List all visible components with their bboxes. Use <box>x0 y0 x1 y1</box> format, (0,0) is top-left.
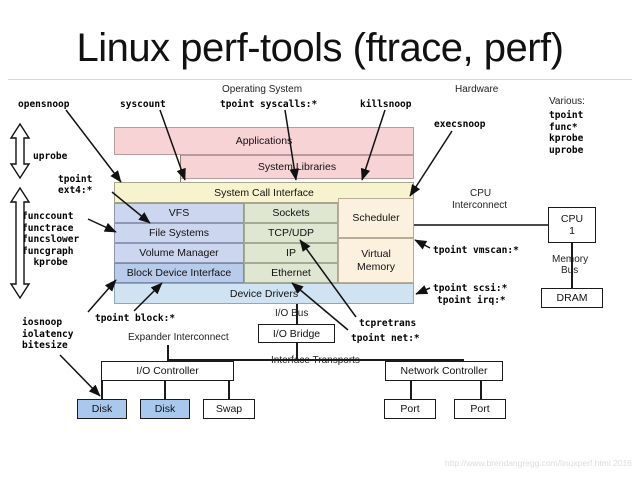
title-divider <box>8 79 632 80</box>
box-file-systems: File Systems <box>114 223 244 243</box>
cpu-label: CPU <box>561 213 583 225</box>
box-io-bridge: I/O Bridge <box>258 324 335 343</box>
line-io-controller-up <box>167 345 169 361</box>
box-io-controller: I/O Controller <box>101 361 234 381</box>
annotation-tpoint-scsi: tpoint scsi:* <box>433 283 507 295</box>
box-disk-b: Disk <box>140 399 190 419</box>
footer-url: http://www.brendangregg.com/linuxperf.ht… <box>0 458 632 468</box>
line-cpu-interconnect <box>414 224 548 226</box>
label-interface-transports: Interface Transports <box>271 355 360 366</box>
label-various: Various: <box>549 96 585 107</box>
cpu-number: 1 <box>569 225 575 237</box>
line-network-controller-up <box>443 359 445 362</box>
box-disk-a: Disk <box>77 399 127 419</box>
annotation-killsnoop: killsnoop <box>360 99 411 111</box>
label-expander-interconnect: Expander Interconnect <box>128 332 229 343</box>
virtual-memory-line-2: Memory <box>357 261 395 274</box>
annotation-tpoint-syscalls: tpoint syscalls:* <box>220 99 317 111</box>
box-scheduler: Scheduler <box>338 198 414 238</box>
annotation-tpoint-net: tpoint net:* <box>351 333 420 345</box>
box-tcp-udp: TCP/UDP <box>244 223 338 243</box>
line-io-bus <box>296 304 298 324</box>
annotation-tcpretrans: tcpretrans <box>359 318 416 330</box>
annotation-tpoint-vmscan: tpoint vmscan:* <box>433 245 519 257</box>
box-sockets: Sockets <box>244 203 338 223</box>
box-cpu-1: CPU 1 <box>548 207 596 243</box>
annotation-various-tools: tpoint func* kprobe uprobe <box>549 110 583 156</box>
line-disk-a <box>101 381 103 399</box>
annotation-tpoint-irq: tpoint irq:* <box>437 295 506 307</box>
box-device-drivers: Device Drivers <box>114 283 414 304</box>
box-system-libraries: System Libraries <box>180 155 414 179</box>
box-ethernet: Ethernet <box>244 263 338 283</box>
annotation-io-tools: iosnoop iolatency bitesize <box>22 317 73 352</box>
label-operating-system: Operating System <box>222 84 302 95</box>
annotation-execsnoop: execsnoop <box>434 119 485 131</box>
page-title: Linux perf-tools (ftrace, perf) <box>0 22 640 74</box>
label-cpu-interconnect-1: CPU <box>470 188 491 199</box>
line-port-a <box>410 381 412 399</box>
annotation-tpoint-ext4-2: ext4:* <box>58 185 92 197</box>
label-hardware: Hardware <box>455 84 498 95</box>
annotation-func-tools: funccount functrace funcslower funcgraph… <box>22 211 79 269</box>
annotation-uprobe: uprobe <box>33 151 67 163</box>
box-applications: Applications <box>114 127 414 155</box>
box-port-b: Port <box>454 399 506 419</box>
line-disk-b <box>164 381 166 399</box>
box-port-a: Port <box>384 399 436 419</box>
label-memory-bus-2: Bus <box>561 265 578 276</box>
line-system-libraries-edge <box>180 155 181 182</box>
line-io-bridge-down <box>296 343 298 360</box>
box-network-controller: Network Controller <box>385 361 503 381</box>
annotation-syscount: syscount <box>120 99 166 111</box>
box-dram: DRAM <box>541 288 603 308</box>
box-virtual-memory: Virtual Memory <box>338 238 414 283</box>
label-io-bus: I/O Bus <box>275 308 308 319</box>
box-block-device-interface: Block Device Interface <box>114 263 244 283</box>
box-vfs: VFS <box>114 203 244 223</box>
virtual-memory-line-1: Virtual <box>361 248 391 261</box>
label-cpu-interconnect-2: Interconnect <box>452 200 507 211</box>
line-swap <box>228 381 230 399</box>
box-volume-manager: Volume Manager <box>114 243 244 263</box>
line-port-b <box>480 381 482 399</box>
annotation-opensnoop: opensnoop <box>18 99 69 111</box>
line-memory-bus <box>571 243 573 288</box>
annotation-tpoint-block: tpoint block:* <box>95 313 175 325</box>
line-expander-interconnect <box>167 359 464 361</box>
box-ip: IP <box>244 243 338 263</box>
box-swap: Swap <box>203 399 255 419</box>
annotation-tpoint-ext4-1: tpoint <box>58 174 92 186</box>
